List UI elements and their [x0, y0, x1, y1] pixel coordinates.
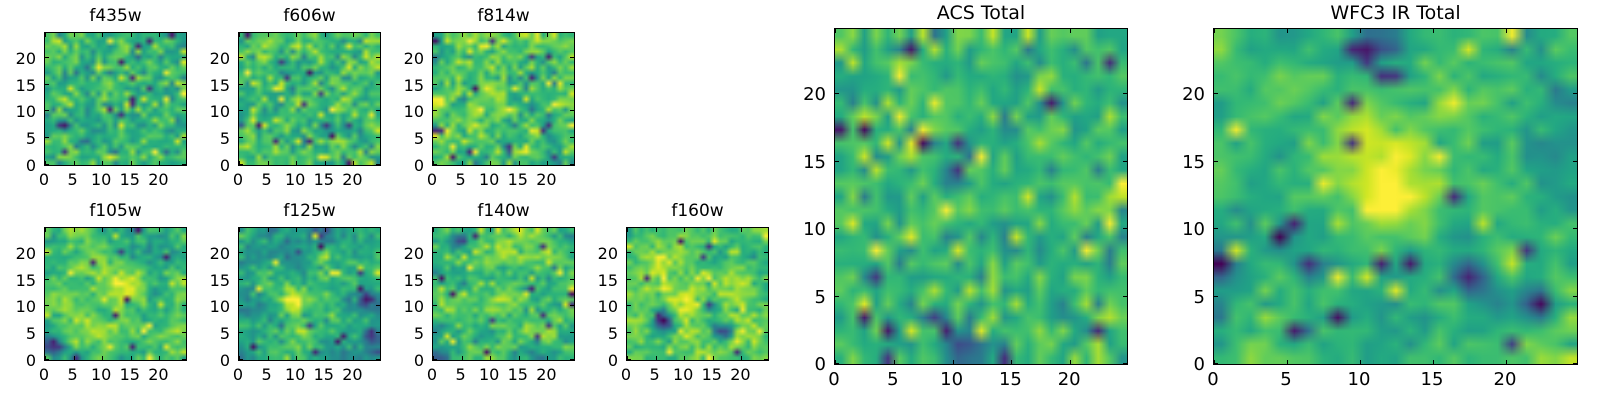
xtick-top-f606w-20 [353, 33, 354, 37]
ytick-label-acs_total-5: 5 [774, 287, 826, 308]
ytick-label-f435w-20: 20 [0, 49, 36, 68]
heatmap-f606w [239, 33, 380, 165]
xtick-top-f160w-10 [684, 228, 685, 232]
ytick-f435w-5 [45, 137, 49, 138]
ytick-label-acs_total-0: 0 [774, 354, 826, 375]
xtick-label-wfc3_ir_total-5: 5 [1266, 369, 1306, 390]
xtick-top-wfc3_ir_total-15 [1433, 29, 1434, 33]
panel-f814w: f814w0055101015152020 [372, 6, 575, 200]
ytick-acs_total-15 [835, 161, 839, 162]
heatmap-wfc3_ir_total [1214, 29, 1577, 364]
panel-title-f606w: f606w [238, 6, 381, 26]
ytick-acs_total-5 [835, 296, 839, 297]
ytick-wfc3_ir_total-20 [1214, 93, 1218, 94]
xtick-f125w-15 [325, 356, 326, 360]
ytick-right-f814w-0 [570, 164, 574, 165]
panel-f125w: f125w0055101015152020 [178, 201, 381, 395]
xtick-acs_total-15 [1011, 360, 1012, 364]
heatmap-f105w [45, 228, 186, 360]
ytick-f814w-10 [433, 110, 437, 111]
ytick-label-acs_total-15: 15 [774, 152, 826, 173]
xtick-f105w-5 [74, 356, 75, 360]
ytick-f125w-0 [239, 359, 243, 360]
ytick-f435w-10 [45, 110, 49, 111]
xtick-top-f814w-0 [433, 33, 434, 37]
xtick-label-acs_total-10: 10 [932, 369, 972, 390]
xtick-label-f125w-20: 20 [332, 365, 372, 384]
ytick-acs_total-10 [835, 228, 839, 229]
xtick-f160w-10 [684, 356, 685, 360]
ytick-acs_total-20 [835, 93, 839, 94]
ytick-f814w-15 [433, 84, 437, 85]
xtick-top-acs_total-20 [1070, 29, 1071, 33]
ytick-f160w-10 [627, 305, 631, 306]
xtick-label-f160w-20: 20 [720, 365, 760, 384]
ytick-right-wfc3_ir_total-0 [1573, 363, 1577, 364]
ytick-label-wfc3_ir_total-15: 15 [1153, 152, 1205, 173]
panel-title-f160w: f160w [626, 201, 769, 221]
ytick-label-f140w-15: 15 [372, 271, 424, 290]
xtick-top-f606w-15 [325, 33, 326, 37]
ytick-wfc3_ir_total-10 [1214, 228, 1218, 229]
heatmap-f435w [45, 33, 186, 165]
panel-acs_total: ACS Total0055101015152020 [774, 2, 1128, 399]
xtick-f435w-20 [159, 161, 160, 165]
panel-wfc3_ir_total: WFC3 IR Total0055101015152020 [1153, 2, 1578, 399]
panel-title-f105w: f105w [44, 201, 187, 221]
heatmap-f814w [433, 33, 574, 165]
axes-wfc3_ir_total [1213, 28, 1578, 365]
ytick-label-f814w-0: 0 [372, 156, 424, 175]
xtick-top-f125w-10 [296, 228, 297, 232]
ytick-f125w-5 [239, 332, 243, 333]
xtick-top-f105w-10 [102, 228, 103, 232]
xtick-top-f140w-15 [519, 228, 520, 232]
xtick-f125w-20 [353, 356, 354, 360]
axes-f140w [432, 227, 575, 361]
ytick-f125w-15 [239, 279, 243, 280]
xtick-f125w-5 [268, 356, 269, 360]
xtick-f606w-10 [296, 161, 297, 165]
xtick-wfc3_ir_total-5 [1287, 360, 1288, 364]
ytick-acs_total-0 [835, 363, 839, 364]
xtick-top-f160w-5 [656, 228, 657, 232]
xtick-top-f606w-0 [239, 33, 240, 37]
ytick-label-f160w-0: 0 [566, 351, 618, 370]
ytick-label-f435w-5: 5 [0, 129, 36, 148]
xtick-top-f125w-0 [239, 228, 240, 232]
ytick-right-acs_total-5 [1123, 296, 1127, 297]
ytick-right-acs_total-20 [1123, 93, 1127, 94]
xtick-top-f140w-0 [433, 228, 434, 232]
xtick-top-f814w-5 [462, 33, 463, 37]
xtick-top-f140w-10 [490, 228, 491, 232]
ytick-right-f160w-5 [764, 332, 768, 333]
ytick-f125w-10 [239, 305, 243, 306]
ytick-right-f160w-10 [764, 305, 768, 306]
ytick-f105w-0 [45, 359, 49, 360]
ytick-f140w-20 [433, 252, 437, 253]
ytick-label-f125w-0: 0 [178, 351, 230, 370]
xtick-top-f814w-15 [519, 33, 520, 37]
xtick-label-f435w-20: 20 [138, 170, 178, 189]
xtick-top-wfc3_ir_total-20 [1506, 29, 1507, 33]
ytick-wfc3_ir_total-15 [1214, 161, 1218, 162]
xtick-f435w-5 [74, 161, 75, 165]
ytick-label-f140w-10: 10 [372, 297, 424, 316]
xtick-f814w-5 [462, 161, 463, 165]
xtick-wfc3_ir_total-10 [1360, 360, 1361, 364]
panel-title-f125w: f125w [238, 201, 381, 221]
ytick-f160w-5 [627, 332, 631, 333]
ytick-label-f606w-10: 10 [178, 102, 230, 121]
xtick-label-f814w-20: 20 [526, 170, 566, 189]
ytick-label-f140w-20: 20 [372, 244, 424, 263]
ytick-label-f125w-20: 20 [178, 244, 230, 263]
ytick-label-f105w-20: 20 [0, 244, 36, 263]
ytick-right-wfc3_ir_total-15 [1573, 161, 1577, 162]
ytick-f105w-20 [45, 252, 49, 253]
panel-f105w: f105w0055101015152020 [0, 201, 187, 395]
xtick-top-acs_total-0 [835, 29, 836, 33]
ytick-f435w-0 [45, 164, 49, 165]
xtick-label-acs_total-5: 5 [873, 369, 913, 390]
ytick-label-f160w-15: 15 [566, 271, 618, 290]
ytick-label-f105w-5: 5 [0, 324, 36, 343]
xtick-top-acs_total-10 [953, 29, 954, 33]
xtick-label-wfc3_ir_total-20: 20 [1485, 369, 1525, 390]
ytick-f160w-20 [627, 252, 631, 253]
xtick-label-wfc3_ir_total-15: 15 [1412, 369, 1452, 390]
ytick-f140w-15 [433, 279, 437, 280]
panel-title-wfc3_ir_total: WFC3 IR Total [1213, 2, 1578, 24]
panel-f140w: f140w0055101015152020 [372, 201, 575, 395]
ytick-label-f105w-15: 15 [0, 271, 36, 290]
axes-acs_total [834, 28, 1128, 365]
xtick-f606w-15 [325, 161, 326, 165]
ytick-f606w-5 [239, 137, 243, 138]
ytick-label-f606w-20: 20 [178, 49, 230, 68]
ytick-f606w-20 [239, 57, 243, 58]
ytick-right-wfc3_ir_total-5 [1573, 296, 1577, 297]
ytick-f140w-10 [433, 305, 437, 306]
xtick-top-wfc3_ir_total-0 [1214, 29, 1215, 33]
xtick-top-f160w-20 [741, 228, 742, 232]
ytick-f814w-0 [433, 164, 437, 165]
ytick-label-f435w-0: 0 [0, 156, 36, 175]
xtick-top-f125w-15 [325, 228, 326, 232]
ytick-right-acs_total-10 [1123, 228, 1127, 229]
ytick-right-f160w-0 [764, 359, 768, 360]
ytick-label-f606w-5: 5 [178, 129, 230, 148]
xtick-label-acs_total-15: 15 [990, 369, 1030, 390]
xtick-top-f105w-5 [74, 228, 75, 232]
ytick-label-f814w-20: 20 [372, 49, 424, 68]
xtick-label-f140w-20: 20 [526, 365, 566, 384]
heatmap-f160w [627, 228, 768, 360]
xtick-top-f105w-0 [45, 228, 46, 232]
ytick-label-f105w-0: 0 [0, 351, 36, 370]
ytick-label-f125w-15: 15 [178, 271, 230, 290]
axes-f606w [238, 32, 381, 166]
xtick-top-f105w-15 [131, 228, 132, 232]
ytick-label-f160w-20: 20 [566, 244, 618, 263]
xtick-f814w-20 [547, 161, 548, 165]
axes-f814w [432, 32, 575, 166]
panel-title-f435w: f435w [44, 6, 187, 26]
xtick-label-acs_total-20: 20 [1049, 369, 1089, 390]
ytick-right-f814w-5 [570, 137, 574, 138]
ytick-right-wfc3_ir_total-10 [1573, 228, 1577, 229]
panel-title-f140w: f140w [432, 201, 575, 221]
xtick-top-f125w-5 [268, 228, 269, 232]
ytick-f606w-10 [239, 110, 243, 111]
xtick-f435w-10 [102, 161, 103, 165]
xtick-wfc3_ir_total-15 [1433, 360, 1434, 364]
ytick-label-f606w-0: 0 [178, 156, 230, 175]
ytick-f125w-20 [239, 252, 243, 253]
xtick-f606w-5 [268, 161, 269, 165]
ytick-right-acs_total-0 [1123, 363, 1127, 364]
xtick-f105w-20 [159, 356, 160, 360]
xtick-f814w-10 [490, 161, 491, 165]
axes-f160w [626, 227, 769, 361]
ytick-right-f814w-10 [570, 110, 574, 111]
xtick-f606w-20 [353, 161, 354, 165]
ytick-label-f814w-5: 5 [372, 129, 424, 148]
xtick-top-f435w-15 [131, 33, 132, 37]
ytick-label-f105w-10: 10 [0, 297, 36, 316]
ytick-right-acs_total-15 [1123, 161, 1127, 162]
ytick-label-f814w-10: 10 [372, 102, 424, 121]
xtick-label-f606w-20: 20 [332, 170, 372, 189]
ytick-label-acs_total-10: 10 [774, 219, 826, 240]
panel-title-f814w: f814w [432, 6, 575, 26]
ytick-label-f140w-0: 0 [372, 351, 424, 370]
figure-canvas: f435w0055101015152020f606w00551010151520… [0, 0, 1600, 400]
xtick-f160w-15 [713, 356, 714, 360]
xtick-label-f105w-20: 20 [138, 365, 178, 384]
ytick-label-f125w-5: 5 [178, 324, 230, 343]
ytick-f105w-10 [45, 305, 49, 306]
ytick-f160w-15 [627, 279, 631, 280]
xtick-top-wfc3_ir_total-5 [1287, 29, 1288, 33]
xtick-top-f140w-5 [462, 228, 463, 232]
ytick-label-wfc3_ir_total-10: 10 [1153, 219, 1205, 240]
ytick-label-f814w-15: 15 [372, 76, 424, 95]
xtick-top-f606w-5 [268, 33, 269, 37]
xtick-f140w-20 [547, 356, 548, 360]
xtick-top-f814w-10 [490, 33, 491, 37]
xtick-f105w-15 [131, 356, 132, 360]
xtick-top-f160w-0 [627, 228, 628, 232]
xtick-f160w-5 [656, 356, 657, 360]
ytick-right-f160w-20 [764, 252, 768, 253]
xtick-top-f814w-20 [547, 33, 548, 37]
ytick-label-f435w-10: 10 [0, 102, 36, 121]
panel-f160w: f160w0055101015152020 [566, 201, 769, 395]
ytick-f435w-20 [45, 57, 49, 58]
xtick-top-f105w-20 [159, 228, 160, 232]
ytick-wfc3_ir_total-0 [1214, 363, 1218, 364]
ytick-f140w-0 [433, 359, 437, 360]
ytick-label-f606w-15: 15 [178, 76, 230, 95]
ytick-label-f435w-15: 15 [0, 76, 36, 95]
ytick-right-f814w-15 [570, 84, 574, 85]
ytick-right-wfc3_ir_total-20 [1573, 93, 1577, 94]
ytick-right-f160w-15 [764, 279, 768, 280]
axes-f435w [44, 32, 187, 166]
ytick-f435w-15 [45, 84, 49, 85]
xtick-f814w-15 [519, 161, 520, 165]
panel-title-acs_total: ACS Total [834, 2, 1128, 24]
xtick-top-f606w-10 [296, 33, 297, 37]
xtick-top-f435w-10 [102, 33, 103, 37]
ytick-label-f140w-5: 5 [372, 324, 424, 343]
ytick-right-f814w-20 [570, 57, 574, 58]
xtick-wfc3_ir_total-20 [1506, 360, 1507, 364]
ytick-f105w-15 [45, 279, 49, 280]
ytick-f814w-20 [433, 57, 437, 58]
panel-f435w: f435w0055101015152020 [0, 6, 187, 200]
xtick-top-acs_total-15 [1011, 29, 1012, 33]
ytick-label-wfc3_ir_total-0: 0 [1153, 354, 1205, 375]
heatmap-f125w [239, 228, 380, 360]
xtick-f140w-5 [462, 356, 463, 360]
xtick-acs_total-20 [1070, 360, 1071, 364]
ytick-f606w-0 [239, 164, 243, 165]
xtick-f140w-10 [490, 356, 491, 360]
heatmap-acs_total [835, 29, 1127, 364]
ytick-label-acs_total-20: 20 [774, 84, 826, 105]
xtick-f435w-15 [131, 161, 132, 165]
xtick-top-f160w-15 [713, 228, 714, 232]
ytick-label-f160w-5: 5 [566, 324, 618, 343]
xtick-acs_total-5 [894, 360, 895, 364]
xtick-label-wfc3_ir_total-10: 10 [1339, 369, 1379, 390]
ytick-wfc3_ir_total-5 [1214, 296, 1218, 297]
xtick-f160w-20 [741, 356, 742, 360]
xtick-f105w-10 [102, 356, 103, 360]
xtick-top-f435w-0 [45, 33, 46, 37]
xtick-top-f435w-5 [74, 33, 75, 37]
xtick-acs_total-10 [953, 360, 954, 364]
ytick-f814w-5 [433, 137, 437, 138]
ytick-label-wfc3_ir_total-5: 5 [1153, 287, 1205, 308]
ytick-f140w-5 [433, 332, 437, 333]
ytick-label-f160w-10: 10 [566, 297, 618, 316]
axes-f125w [238, 227, 381, 361]
panel-f606w: f606w0055101015152020 [178, 6, 381, 200]
xtick-top-acs_total-5 [894, 29, 895, 33]
xtick-top-f125w-20 [353, 228, 354, 232]
axes-f105w [44, 227, 187, 361]
xtick-f140w-15 [519, 356, 520, 360]
ytick-f160w-0 [627, 359, 631, 360]
ytick-label-wfc3_ir_total-20: 20 [1153, 84, 1205, 105]
xtick-top-f435w-20 [159, 33, 160, 37]
xtick-f125w-10 [296, 356, 297, 360]
heatmap-f140w [433, 228, 574, 360]
ytick-f606w-15 [239, 84, 243, 85]
xtick-top-f140w-20 [547, 228, 548, 232]
ytick-f105w-5 [45, 332, 49, 333]
ytick-label-f125w-10: 10 [178, 297, 230, 316]
xtick-top-wfc3_ir_total-10 [1360, 29, 1361, 33]
